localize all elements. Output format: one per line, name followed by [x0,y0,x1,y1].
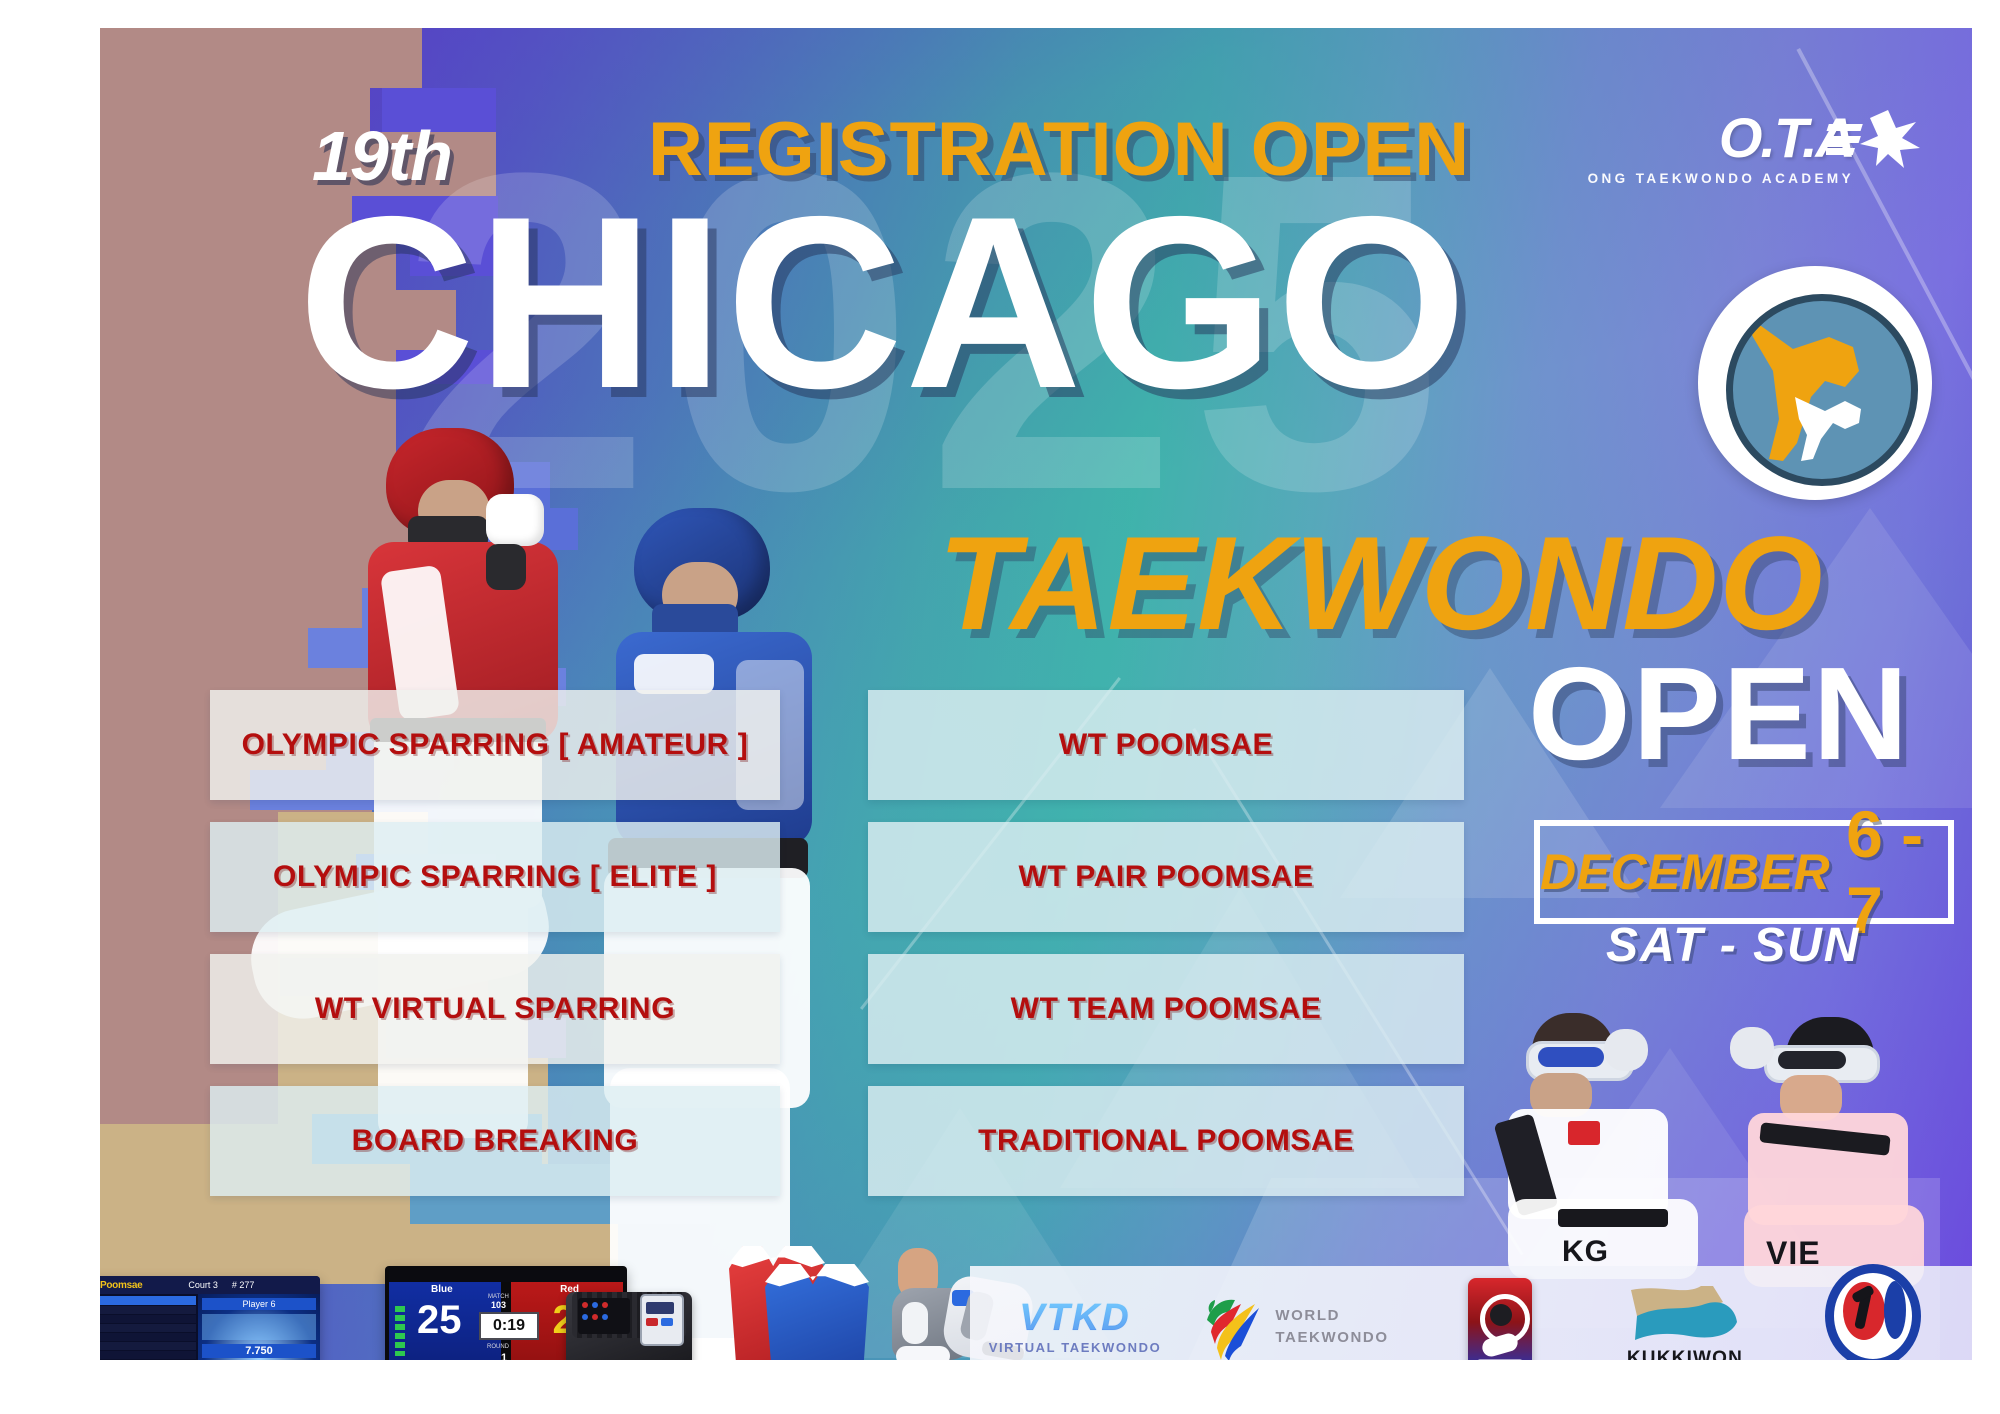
event-label: OLYMPIC SPARRING [ AMATEUR ] [242,728,749,762]
sponsor-tagline: VIRTUAL TAEKWONDO [989,1340,1162,1355]
subtitle-open: OPEN [1528,648,1910,780]
events-left-column: OLYMPIC SPARRING [ AMATEUR ] OLYMPIC SPA… [210,690,780,1196]
world-taekwondo-logo-icon [1201,1290,1263,1360]
poster-canvas: 2025 [100,28,1972,1360]
sponsor-name: WORLD [1275,1307,1340,1324]
kukkiwon-logo-icon [1627,1282,1743,1344]
event-button-traditional-poomsae[interactable]: TRADITIONAL POOMSAE [868,1086,1464,1196]
taekwondo-emblem-icon [1698,266,1932,500]
events-right-column: WT POOMSAE WT PAIR POOMSAE WT TEAM POOMS… [868,690,1464,1196]
chest-protector-thumbnail: 3 [725,1238,885,1360]
sponsor-daedo [1410,1278,1590,1360]
event-button-wt-team-poomsae[interactable]: WT TEAM POOMSAE [868,954,1464,1064]
event-button-wt-poomsae[interactable]: WT POOMSAE [868,690,1464,800]
poomsae-score-value: 7.750 [245,1345,273,1357]
poomsae-scoreboard-thumbnail: Poomsae Court 3 # 277 Player 6 7.750 [100,1276,320,1360]
date-days: 6 - 7 [1846,796,1948,948]
poomsae-bout-label: # 277 [232,1280,255,1290]
vr-athlete-hkg: KG [1508,1013,1728,1283]
sponsor-name: KUKKIWON [1627,1348,1743,1360]
date-month: DECEMBER [1540,843,1830,901]
sparring-clock: 0:19 [493,1317,525,1335]
event-button-olympic-sparring-elite[interactable]: OLYMPIC SPARRING [ ELITE ] [210,822,780,932]
sponsor-world-taekwondo: WORLD TAEKWONDO [1180,1290,1410,1360]
vr-athletes-photo: KG VIE [1508,1003,1938,1293]
event-label: WT TEAM POOMSAE [1011,992,1322,1026]
poomsae-court-label: Court 3 [188,1280,218,1290]
poster-root: 2025 [0,0,2000,1414]
event-label: OLYMPIC SPARRING [ ELITE ] [273,860,717,894]
vr-athlete-vie: VIE [1708,1017,1938,1287]
poomsae-player-label: Player 6 [242,1299,275,1309]
equipment-case-thumbnail [560,1266,700,1360]
sparring-blue-label: Blue [431,1284,453,1295]
event-button-wt-virtual-sparring[interactable]: WT VIRTUAL SPARRING [210,954,780,1064]
sponsor-name: VTKD [1019,1297,1130,1339]
event-button-wt-pair-poomsae[interactable]: WT PAIR POOMSAE [868,822,1464,932]
event-label: WT VIRTUAL SPARRING [315,992,675,1026]
sparring-round-no: 1 [501,1352,507,1360]
event-button-board-breaking[interactable]: BOARD BREAKING [210,1086,780,1196]
poomsae-app-label: Poomsae [100,1280,142,1291]
sponsor-kukkiwon: KUKKIWON [1590,1282,1780,1360]
sparring-blue-score: 25 [417,1300,462,1340]
sparring-round-label: ROUND [487,1344,509,1350]
subtitle-taekwondo: TAEKWONDO [938,518,1824,651]
ota-logo: O.T.A ONG TAEKWONDO ACADEMY [1588,110,1854,186]
sponsor-bar: VTKD VIRTUAL TAEKWONDO WORLD TAEKWONDO [970,1266,1972,1360]
sponsor-tagline: TAEKWONDO [1275,1329,1388,1346]
sponsor-ongs-taekwondo: ONG'S TAEKWONDO [1780,1264,1966,1360]
date-weekdays: SAT - SUN [1606,918,1860,973]
sparring-match-no: 103 [491,1300,506,1310]
ota-star-icon [1826,108,1922,170]
vtkd-logo-icon: VTKD [1019,1297,1130,1340]
sponsor-vtkd: VTKD VIRTUAL TAEKWONDO [970,1297,1180,1355]
ongs-taekwondo-logo-icon [1825,1264,1921,1360]
event-date-box: DECEMBER 6 - 7 [1534,820,1954,924]
event-button-olympic-sparring-amateur[interactable]: OLYMPIC SPARRING [ AMATEUR ] [210,690,780,800]
ota-logo-full: ONG TAEKWONDO ACADEMY [1588,171,1854,186]
event-label: BOARD BREAKING [352,1124,639,1158]
event-label: WT POOMSAE [1059,728,1273,762]
event-label: WT PAIR POOMSAE [1018,860,1313,894]
page-title: CHICAGO [298,180,1469,425]
event-label: TRADITIONAL POOMSAE [978,1124,1354,1158]
daedo-logo-icon [1468,1278,1532,1360]
